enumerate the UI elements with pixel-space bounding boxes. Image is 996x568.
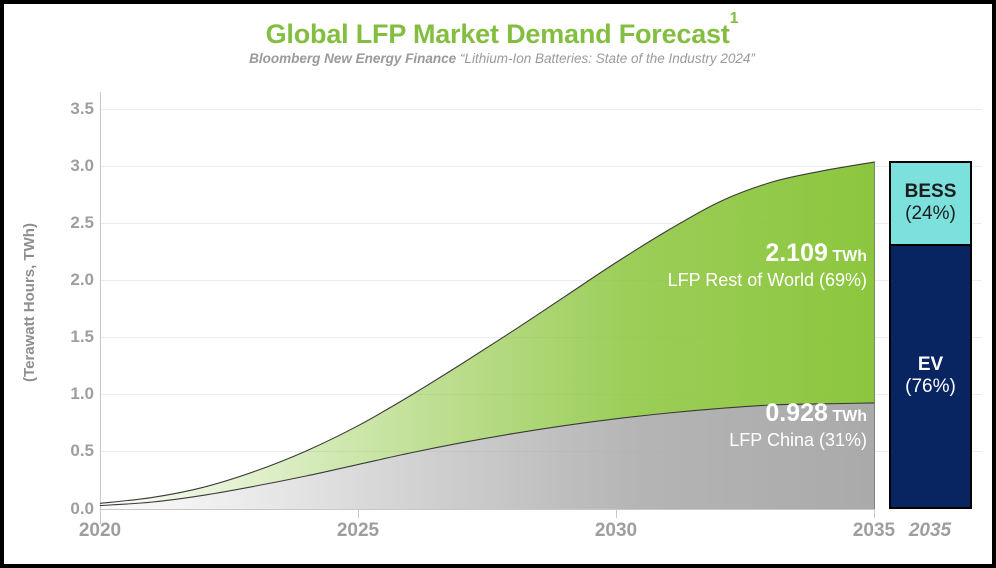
x-tick-label-2025: 2025 (337, 520, 379, 542)
chart-subtitle: Bloomberg New Energy Finance “Lithium-Io… (4, 52, 996, 67)
y-tick-label: 1.0 (46, 384, 94, 404)
title-footnote-marker: 1 (730, 10, 739, 27)
title-block: Global LFP Market Demand Forecast1 Bloom… (4, 20, 996, 67)
annotation-value: 0.928 (765, 399, 828, 427)
annotation-unit: TWh (832, 408, 867, 425)
annotation-rest-of-world: 2.109 TWh LFP Rest of World (69%) (668, 239, 867, 291)
annotation-value: 2.109 (765, 239, 828, 267)
chart-title-text: Global LFP Market Demand Forecast (266, 19, 730, 49)
bar-segment-percent: (24%) (905, 203, 956, 226)
y-tick-label: 0.0 (46, 499, 94, 519)
annotation-label: LFP China (31%) (729, 430, 867, 451)
bar-segment-bess: BESS (24%) (891, 163, 970, 246)
plot-wrapper: 0.0 0.5 1.0 1.5 2.0 2.5 3.0 3.5 (42, 92, 982, 524)
x-tick-label-bar-2035: 2035 (909, 520, 951, 542)
x-tick-label-2035: 2035 (853, 520, 895, 542)
composition-stacked-bar: BESS (24%) EV (76%) (889, 161, 972, 509)
x-axis-labels: 2020 2025 2030 2035 2035 (42, 520, 982, 554)
subtitle-source-title: “Lithium-Ion Batteries: State of the Ind… (456, 51, 755, 66)
annotation-china: 0.928 TWh LFP China (31%) (729, 399, 867, 451)
annotation-unit: TWh (832, 248, 867, 265)
page-title: Global LFP Market Demand Forecast1 (4, 20, 996, 48)
y-tick-label: 3.5 (46, 99, 94, 119)
annotation-label: LFP Rest of World (69%) (668, 270, 867, 291)
y-tick-label: 2.0 (46, 270, 94, 290)
y-tick-label: 1.5 (46, 327, 94, 347)
area-chart-svg (100, 92, 875, 524)
subtitle-source-name: Bloomberg New Energy Finance (249, 51, 456, 66)
bar-segment-label: BESS (905, 181, 957, 203)
bar-segment-ev: EV (76%) (891, 246, 970, 507)
y-axis-title: (Terawatt Hours, TWh) (16, 92, 42, 512)
y-tick-label: 0.5 (46, 441, 94, 461)
stacked-area-plot: 2.109 TWh LFP Rest of World (69%) 0.928 … (100, 92, 875, 524)
x-tick-label-2020: 2020 (79, 520, 121, 542)
y-tick-label: 3.0 (46, 156, 94, 176)
y-axis-title-text: (Terawatt Hours, TWh) (21, 223, 38, 382)
bar-segment-percent: (76%) (905, 376, 956, 399)
x-tick-label-2030: 2030 (595, 520, 637, 542)
chart-frame: Global LFP Market Demand Forecast1 Bloom… (0, 0, 996, 568)
series-layer (100, 162, 875, 509)
y-tick-label: 2.5 (46, 213, 94, 233)
bar-segment-label: EV (918, 354, 943, 376)
y-axis-ticks: 0.0 0.5 1.0 1.5 2.0 2.5 3.0 3.5 (42, 92, 94, 524)
